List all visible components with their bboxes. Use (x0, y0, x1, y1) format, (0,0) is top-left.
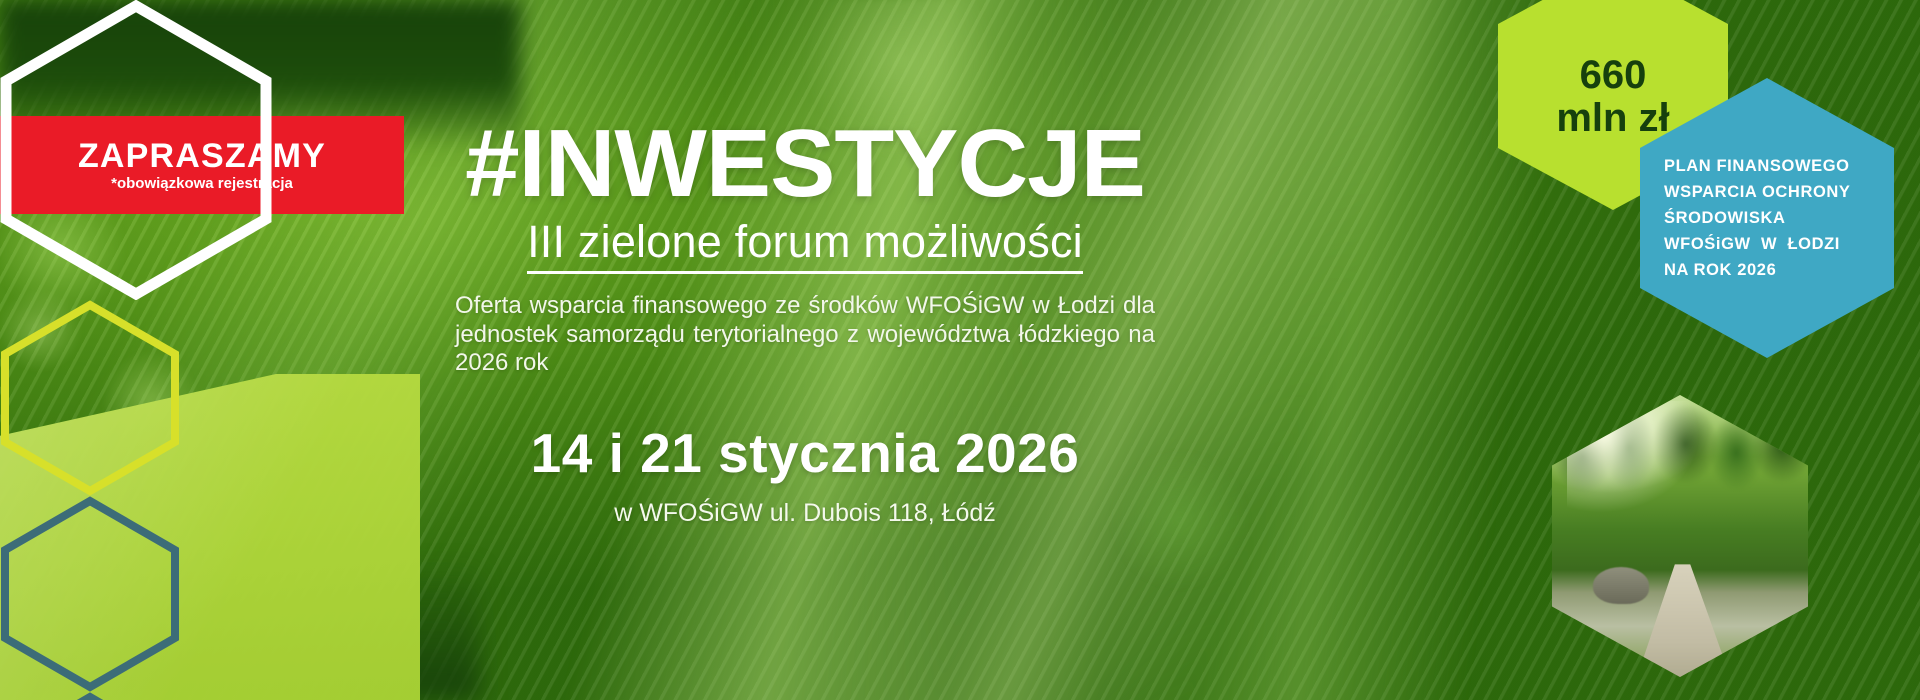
event-venue: w WFOŚiGW ul. Dubois 118, Łódź (455, 501, 1155, 526)
event-date: 14 i 21 stycznia 2026 (455, 426, 1155, 481)
hexagon-outline-teal-bottom-icon (0, 692, 180, 700)
plan-info-line-4: WFOŚiGW W ŁODZI (1664, 231, 1840, 257)
plan-info-line-4-a: WFOŚiGW (1664, 231, 1751, 257)
hexagon-outline-teal-top-icon (0, 496, 180, 692)
amount-value: 660 (1580, 55, 1647, 96)
subheadline-wrapper: III zielone forum możliwości (455, 218, 1155, 274)
event-headline: #INWESTYCJE (448, 118, 1162, 210)
hexagon-outline-lime-icon (0, 300, 180, 496)
plan-info-text: PLAN FINANSOWEGO WSPARCIA OCHRONY ŚRODOW… (1664, 153, 1851, 283)
event-description: Oferta wsparcia finansowego ze środków W… (455, 292, 1155, 378)
main-content-block: #INWESTYCJE III zielone forum możliwości… (455, 118, 1155, 526)
photo-rock (1593, 567, 1649, 604)
hexagon-outline-white-icon (0, 0, 272, 300)
plan-info-line-5: NA ROK 2026 (1664, 257, 1851, 283)
plan-info-line-3: ŚRODOWISKA (1664, 205, 1851, 231)
plan-info-line-4-c: ŁODZI (1788, 231, 1841, 257)
event-banner: ZAPRASZAMY *obowiązkowa rejestracja #INW… (0, 0, 1920, 700)
event-subheadline: III zielone forum możliwości (527, 218, 1083, 274)
plan-info-line-1: PLAN FINANSOWEGO (1664, 153, 1851, 179)
amount-unit: mln zł (1556, 98, 1669, 139)
plan-info-line-2: WSPARCIA OCHRONY (1664, 179, 1851, 205)
plan-info-line-4-b: W (1761, 231, 1777, 257)
